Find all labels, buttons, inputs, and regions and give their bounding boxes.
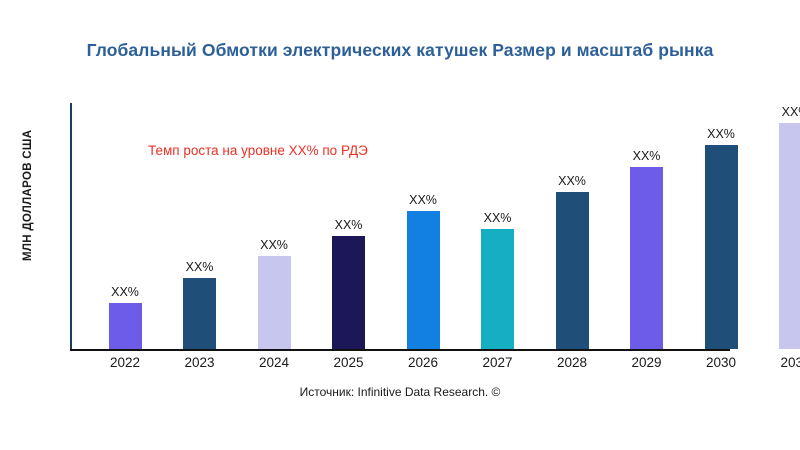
bar-2027[interactable]: XX%: [481, 229, 514, 350]
bar-value-label: XX%: [782, 105, 800, 119]
bar-value-label: XX%: [633, 149, 661, 163]
bar-value-label: XX%: [111, 285, 139, 299]
x-tick-2023: 2023: [184, 355, 214, 370]
x-tick-2031: 2031: [780, 355, 800, 370]
bar-2025[interactable]: XX%: [332, 236, 365, 349]
bar-value-label: XX%: [186, 260, 214, 274]
bar-value-label: XX%: [558, 174, 586, 188]
y-axis-line: [70, 103, 72, 351]
chart-page: Глобальный Обмотки электрических катушек…: [0, 0, 800, 450]
bar-value-label: XX%: [335, 218, 363, 232]
bar-2030[interactable]: XX%: [705, 145, 738, 350]
bar-value-label: XX%: [260, 238, 288, 252]
x-tick-2029: 2029: [631, 355, 661, 370]
growth-rate-annotation: Темп роста на уровне XX% по РДЭ: [148, 143, 368, 158]
x-tick-2026: 2026: [408, 355, 438, 370]
x-tick-2024: 2024: [259, 355, 289, 370]
bar-value-label: XX%: [484, 211, 512, 225]
x-axis-tick-labels: 2022202320242025202620272028202920302031: [70, 355, 780, 377]
x-tick-2030: 2030: [706, 355, 736, 370]
source-caption: Источник: Infinitive Data Research. ©: [0, 385, 800, 399]
bar-2024[interactable]: XX%: [258, 256, 291, 350]
bar-value-label: XX%: [409, 193, 437, 207]
bar-2022[interactable]: XX%: [109, 303, 142, 350]
bar-2029[interactable]: XX%: [630, 167, 663, 349]
bar-2023[interactable]: XX%: [183, 278, 216, 349]
bar-2031[interactable]: XX%: [779, 123, 800, 350]
x-tick-2022: 2022: [110, 355, 140, 370]
x-tick-2025: 2025: [333, 355, 363, 370]
y-axis-label: МЛН ДОЛЛАРОВ США: [22, 50, 38, 340]
plot-area: XX%XX%XX%XX%XX%XX%XX%XX%XX%XX%: [70, 103, 780, 351]
bar-value-label: XX%: [707, 127, 735, 141]
bar-2028[interactable]: XX%: [556, 192, 589, 350]
bar-2026[interactable]: XX%: [407, 211, 440, 349]
page-title: Глобальный Обмотки электрических катушек…: [0, 40, 800, 61]
x-axis-line: [70, 349, 730, 351]
x-tick-2027: 2027: [482, 355, 512, 370]
x-tick-2028: 2028: [557, 355, 587, 370]
